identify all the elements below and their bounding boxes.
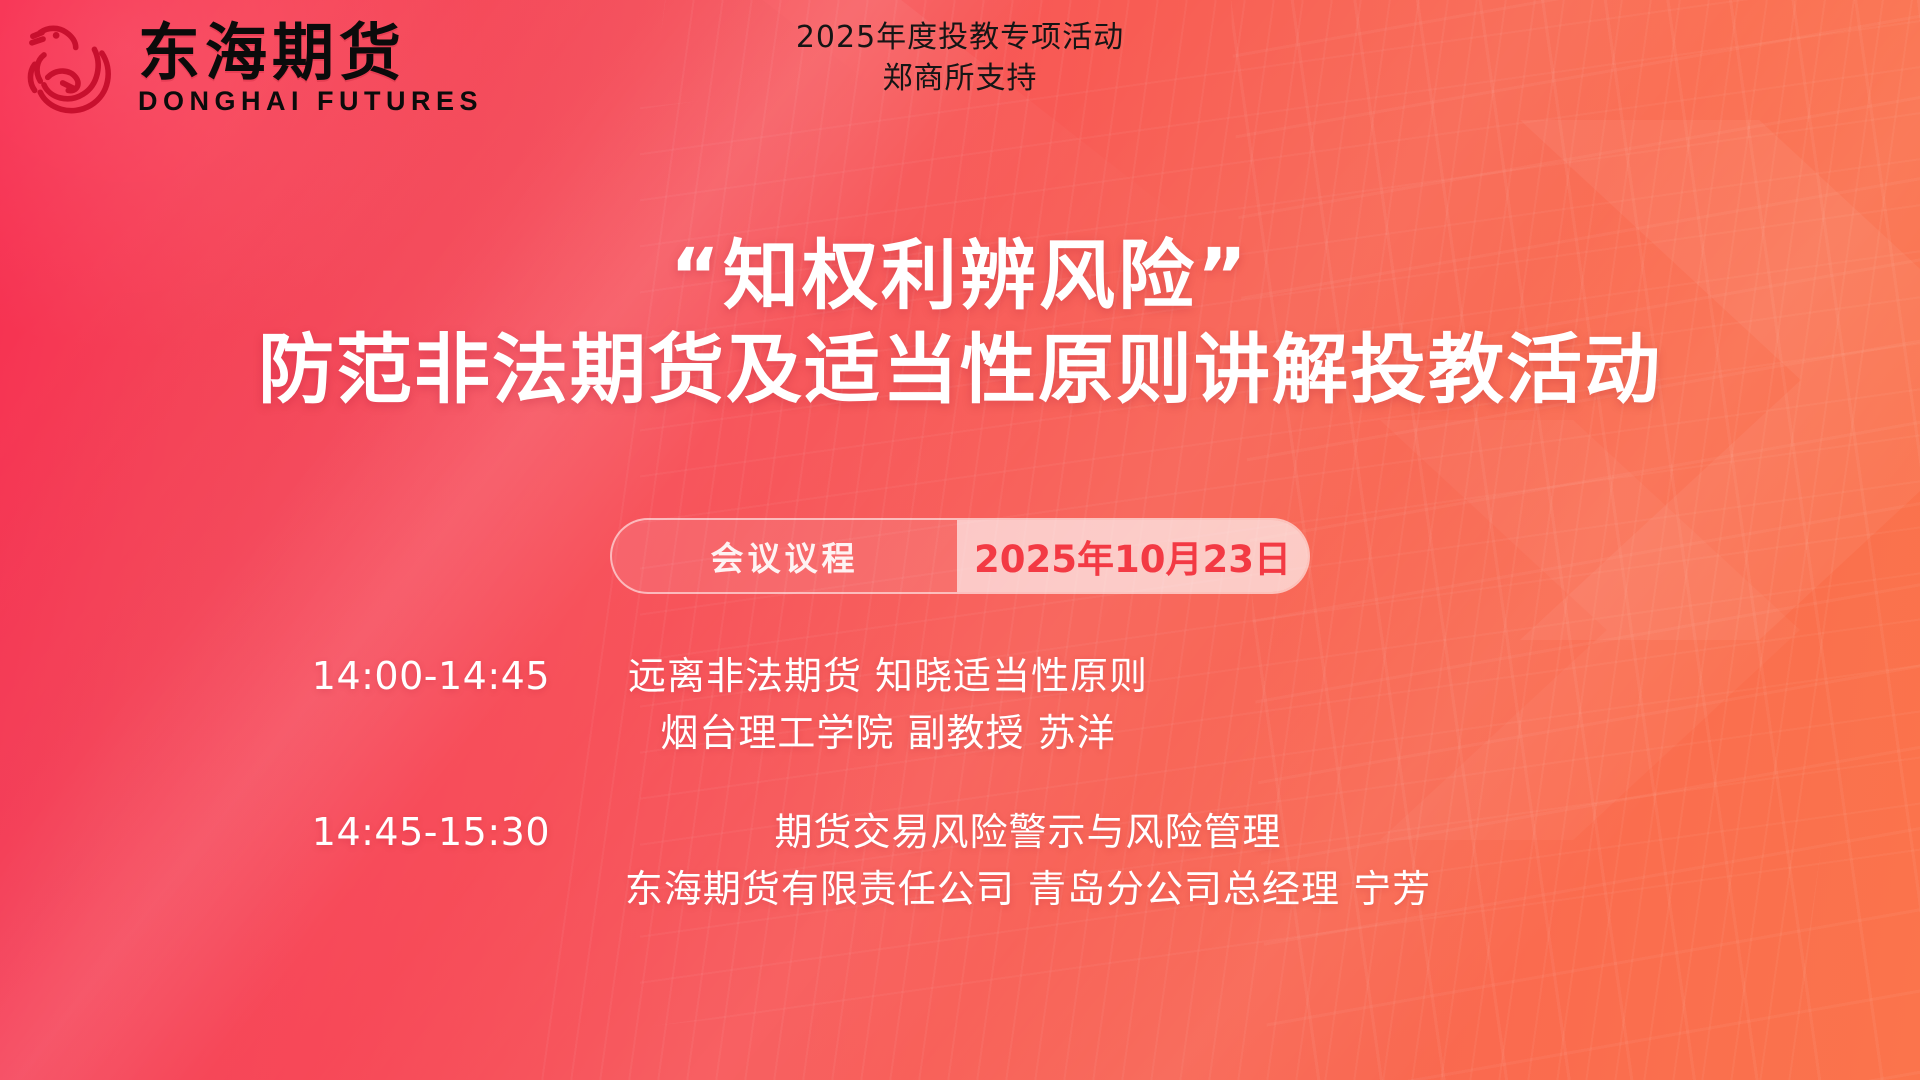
hero-title-line2: 防范非法期货及适当性原则讲解投教活动 — [0, 322, 1920, 418]
agenda-session: 14:45-15:30 期货交易风险警示与风险管理 东海期货有限责任公司 青岛分… — [300, 804, 1620, 918]
agenda-pill-date: 2025年10月23日 — [957, 520, 1308, 592]
hero-title-line1: “知权利辨风险” — [0, 230, 1920, 322]
hero-title: “知权利辨风险” 防范非法期货及适当性原则讲解投教活动 — [0, 230, 1920, 418]
session-title: 期货交易风险警示与风险管理 — [774, 804, 1281, 860]
dragon-icon — [16, 8, 128, 128]
logo-chinese-name: 东海期货 — [138, 21, 483, 84]
brand-logo: 东海期货 DONGHAI FUTURES — [16, 8, 483, 128]
agenda-pill-wrapper: 会议议程 2025年10月23日 — [0, 518, 1920, 594]
session-speaker: 烟台理工学院 副教授 苏洋 — [660, 704, 1115, 762]
agenda-pill-label: 会议议程 — [612, 520, 957, 592]
logo-english-name: DONGHAI FUTURES — [138, 88, 483, 115]
event-poster: 东海期货 DONGHAI FUTURES 2025年度投教专项活动 郑商所支持 … — [0, 0, 1920, 1080]
agenda-list: 14:00-14:45 远离非法期货 知晓适当性原则 烟台理工学院 副教授 苏洋… — [0, 648, 1920, 918]
session-time: 14:00-14:45 — [300, 648, 550, 704]
session-speaker: 东海期货有限责任公司 青岛分公司总经理 宁芳 — [625, 860, 1431, 918]
session-time: 14:45-15:30 — [300, 804, 550, 860]
agenda-pill: 会议议程 2025年10月23日 — [610, 518, 1310, 594]
agenda-session: 14:00-14:45 远离非法期货 知晓适当性原则 烟台理工学院 副教授 苏洋 — [300, 648, 1620, 762]
session-title: 远离非法期货 知晓适当性原则 — [628, 648, 1148, 704]
